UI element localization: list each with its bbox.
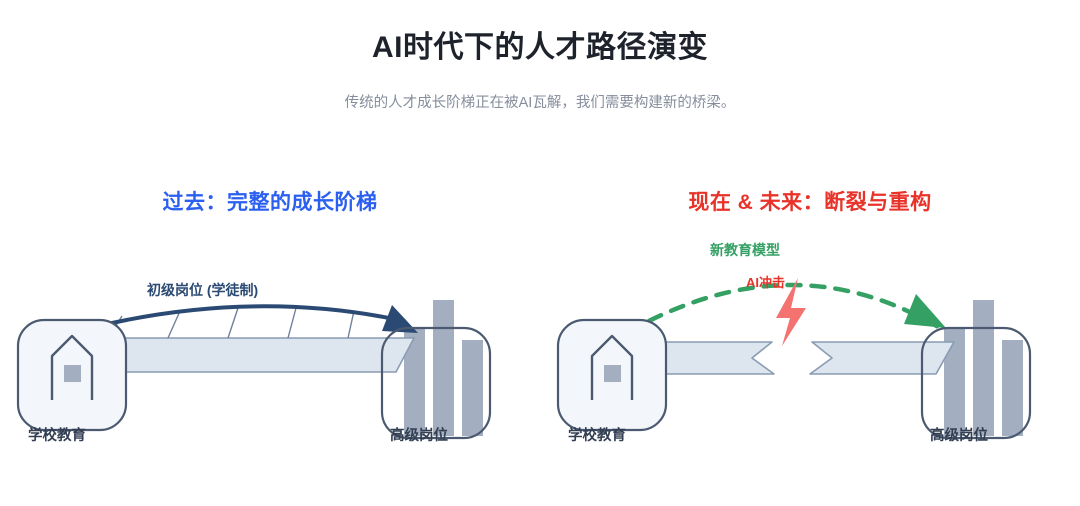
label-ai-disruption: AI冲击 bbox=[746, 272, 785, 291]
bridge-segment-right bbox=[810, 342, 954, 374]
node-school bbox=[558, 320, 666, 430]
apprentice-arc-arrow bbox=[86, 305, 418, 333]
header: AI时代下的人才路径演变 传统的人才成长阶梯正在被AI瓦解，我们需要构建新的桥梁… bbox=[0, 0, 1080, 113]
arc-label-new-model: 新教育模型 bbox=[710, 240, 780, 260]
comparison-panels: 过去：完整的成长阶梯 bbox=[0, 170, 1080, 506]
node-school bbox=[18, 320, 126, 430]
panel-future-heading: 现在 & 未来：断裂与重构 bbox=[540, 170, 1080, 213]
diagram-future: 新教育模型 AI冲击 学校教育 高级岗位 bbox=[540, 232, 1080, 506]
node-label-school: 学校教育 bbox=[28, 424, 86, 445]
bar-chart-icon bbox=[404, 300, 483, 436]
node-label-school: 学校教育 bbox=[568, 424, 626, 445]
panel-past-heading: 过去：完整的成长阶梯 bbox=[0, 170, 540, 213]
panel-past: 过去：完整的成长阶梯 bbox=[0, 170, 540, 506]
slide-canvas: AI时代下的人才路径演变 传统的人才成长阶梯正在被AI瓦解，我们需要构建新的桥梁… bbox=[0, 0, 1080, 506]
bridge-deck bbox=[84, 338, 414, 372]
page-title: AI时代下的人才路径演变 bbox=[0, 30, 1080, 66]
bridge-cables bbox=[108, 308, 354, 338]
panel-future: 现在 & 未来：断裂与重构 bbox=[540, 170, 1080, 506]
node-label-senior: 高级岗位 bbox=[930, 424, 988, 445]
bridge-label-apprentice: 初级岗位 (学徒制) bbox=[147, 280, 258, 300]
node-label-senior: 高级岗位 bbox=[390, 424, 448, 445]
bar-chart-icon bbox=[944, 300, 1023, 436]
diagram-past: 初级岗位 (学徒制) 学校教育 高级岗位 bbox=[0, 232, 540, 506]
page-subtitle: 传统的人才成长阶梯正在被AI瓦解，我们需要构建新的桥梁。 bbox=[0, 66, 1080, 113]
